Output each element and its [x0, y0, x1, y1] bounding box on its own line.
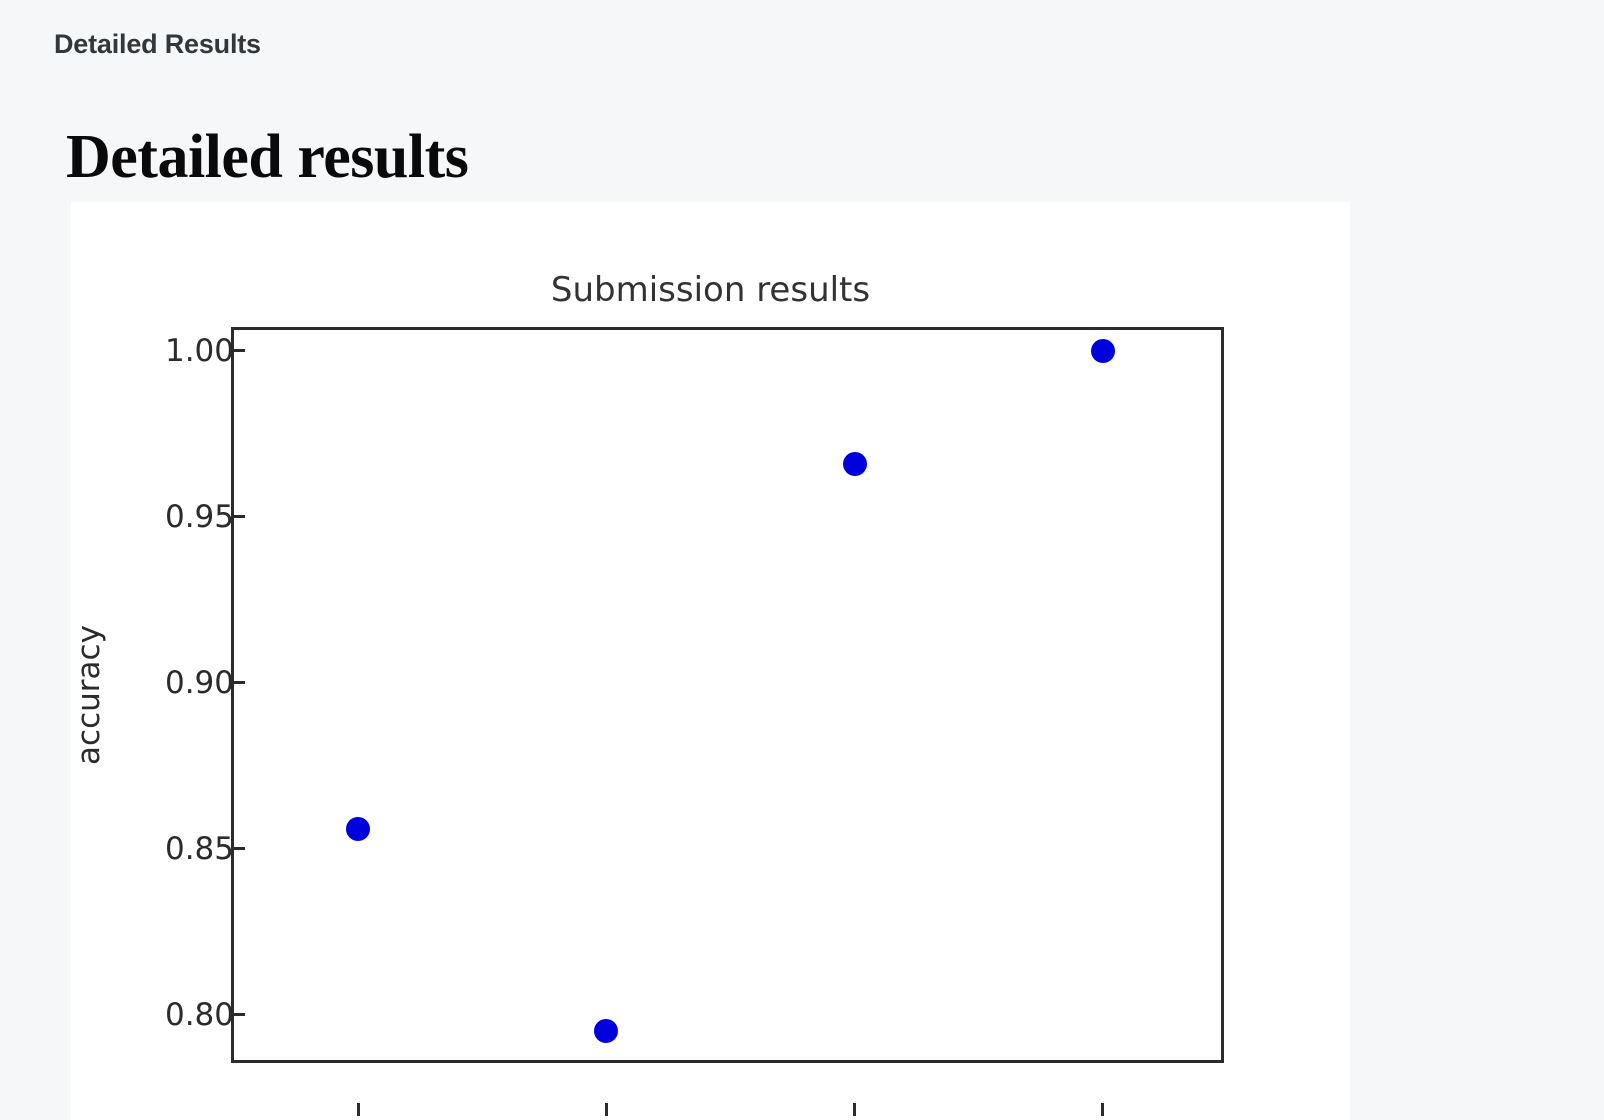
y-tick-label: 0.90 — [165, 668, 234, 699]
results-card: Submission results accuracy 1.000.950.90… — [71, 202, 1350, 1120]
data-point — [1091, 339, 1115, 363]
x-tick-mark — [605, 1103, 608, 1116]
y-tick-mark — [234, 1013, 245, 1016]
y-tick-mark — [234, 681, 245, 684]
section-label: Detailed Results — [54, 29, 261, 60]
y-tick-mark — [234, 349, 245, 352]
page-root: Detailed Results Detailed results Submis… — [0, 0, 1604, 1120]
x-tick-mark — [1101, 1103, 1104, 1116]
page-title: Detailed results — [66, 126, 468, 188]
x-tick-mark — [853, 1103, 856, 1116]
submission-results-chart: Submission results accuracy 1.000.950.90… — [71, 202, 1350, 1120]
plot-area: accuracy 1.000.950.900.850.80 dataset1da… — [231, 327, 1224, 1063]
x-tick-mark — [357, 1103, 360, 1116]
y-axis-label: accuracy — [71, 625, 107, 765]
y-tick-label: 0.80 — [165, 1000, 234, 1031]
data-point — [346, 817, 370, 841]
y-tick-mark — [234, 515, 245, 518]
chart-title: Submission results — [71, 270, 1350, 310]
data-point — [594, 1019, 618, 1043]
y-tick-label: 1.00 — [165, 336, 234, 367]
y-tick-mark — [234, 847, 245, 850]
y-tick-label: 0.85 — [165, 834, 234, 865]
data-point — [843, 452, 867, 476]
y-tick-label: 0.95 — [165, 502, 234, 533]
